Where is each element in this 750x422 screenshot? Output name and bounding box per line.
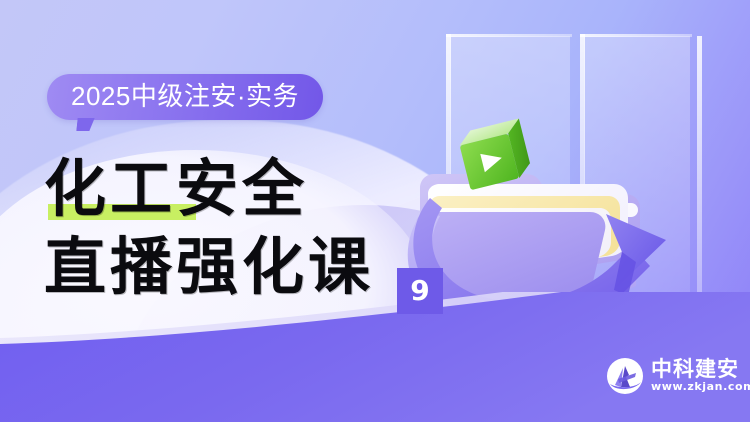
brand-name: 中科建安: [651, 358, 750, 380]
course-tag-label: 2025中级注安·实务: [71, 81, 299, 111]
title-line-2-row: 直播强化课: [44, 230, 444, 304]
brand-url: www.zkjan.com: [651, 380, 750, 394]
glass-panel-top-1: [446, 34, 572, 37]
course-tag: 2025中级注安·实务: [47, 74, 323, 120]
course-banner: 2025中级注安·实务 化工安全 直播强化课 9: [0, 0, 750, 422]
brand-logo: 中科建安 www.zkjan.com: [606, 357, 750, 395]
episode-badge: 9: [397, 268, 443, 314]
course-tag-pill: 2025中级注安·实务: [47, 74, 323, 120]
page-title: 化工安全 直播强化课: [44, 152, 444, 304]
title-line-1-row: 化工安全: [44, 152, 444, 228]
headline-block: 2025中级注安·实务 化工安全 直播强化课 9: [0, 0, 430, 422]
brand-logo-text: 中科建安 www.zkjan.com: [651, 358, 750, 394]
title-line-1: 化工安全: [44, 152, 308, 226]
title-line-2: 直播强化课: [44, 230, 374, 304]
mountain-peak-circle-icon: [606, 357, 644, 395]
course-tag-tail: [76, 118, 94, 131]
glass-panel-top-2: [580, 34, 692, 37]
